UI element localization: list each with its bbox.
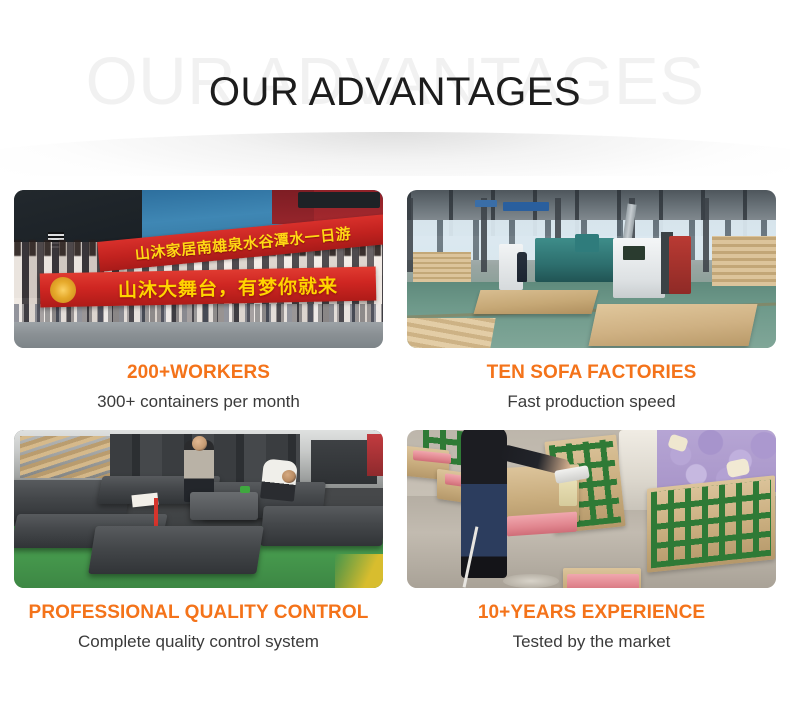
plywood-panel-a: [474, 290, 599, 314]
card-subtitle: 300+ containers per month: [14, 392, 383, 412]
card-subtitle: Complete quality control system: [14, 632, 383, 652]
card-title: PROFESSIONAL QUALITY CONTROL: [14, 602, 383, 625]
cnc-spindle-head: [575, 234, 599, 252]
yellow-floor-marking: [335, 554, 383, 588]
advantage-card-experience[interactable]: 10+YEARS EXPERIENCE Tested by the market: [407, 430, 776, 652]
workshop-sign-small: [475, 200, 497, 207]
plywood-panel-b: [589, 304, 758, 346]
advantage-card-quality-control[interactable]: PROFESSIONAL QUALITY CONTROL Complete qu…: [14, 430, 383, 652]
wooden-pallets: [20, 436, 120, 478]
red-marker-tag: [154, 498, 158, 526]
photo-factory-workshop: [407, 190, 776, 348]
red-cabinet: [367, 434, 383, 476]
advantage-card-workers[interactable]: 山沐家居南雄泉水谷潭水一日游 山沐大舞台，有梦你就来 200+WORKERS 3…: [14, 190, 383, 412]
card-caption: 10+YEARS EXPERIENCE Tested by the market: [407, 588, 776, 652]
pink-foam-pad: [567, 574, 639, 588]
photo-frame-spraying: [407, 430, 776, 588]
photo-quality-control: [14, 430, 383, 588]
photo-group-workers: 山沐家居南雄泉水谷潭水一日游 山沐大舞台，有梦你就来: [14, 190, 383, 348]
ground-pavement: [14, 322, 383, 348]
card-title: 200+WORKERS: [14, 362, 383, 385]
card-title: TEN SOFA FACTORIES: [407, 362, 776, 385]
timber-bundle: [407, 318, 496, 348]
card-caption: TEN SOFA FACTORIES Fast production speed: [407, 348, 776, 412]
adhesive-canister: [559, 480, 577, 506]
card-title: 10+YEARS EXPERIENCE: [407, 602, 776, 625]
card-caption: PROFESSIONAL QUALITY CONTROL Complete qu…: [14, 588, 383, 652]
card-subtitle: Fast production speed: [407, 392, 776, 412]
card-subtitle: Tested by the market: [407, 632, 776, 652]
header-divider: [0, 130, 790, 176]
electrical-cabinet-red: [669, 236, 691, 294]
banner-main: 山沐大舞台，有梦你就来: [40, 266, 377, 307]
card-caption: 200+WORKERS 300+ containers per month: [14, 348, 383, 412]
page-header: OUR ADVANTAGES OUR ADVANTAGES: [0, 0, 790, 180]
sofa-unit: [260, 506, 383, 546]
workshop-sign: [503, 202, 549, 211]
company-logo-icon: [50, 277, 77, 304]
green-hand-tool: [240, 486, 250, 493]
advantages-grid: 山沐家居南雄泉水谷潭水一日游 山沐大舞台，有梦你就来 200+WORKERS 3…: [14, 190, 776, 652]
banner-main-text: 山沐大舞台，有梦你就来: [84, 267, 373, 307]
sofa-unit: [88, 526, 264, 574]
bus-destination-sign: [298, 192, 380, 208]
green-elastic-webbing: [651, 480, 771, 569]
factory-worker: [517, 252, 527, 282]
machine-display-screen: [623, 246, 645, 260]
plywood-stack-left: [413, 252, 471, 282]
advantage-card-factories[interactable]: TEN SOFA FACTORIES Fast production speed: [407, 190, 776, 412]
plywood-stack-right: [712, 236, 776, 286]
sofa-cushion: [190, 492, 258, 520]
page-title: OUR ADVANTAGES: [0, 72, 790, 112]
